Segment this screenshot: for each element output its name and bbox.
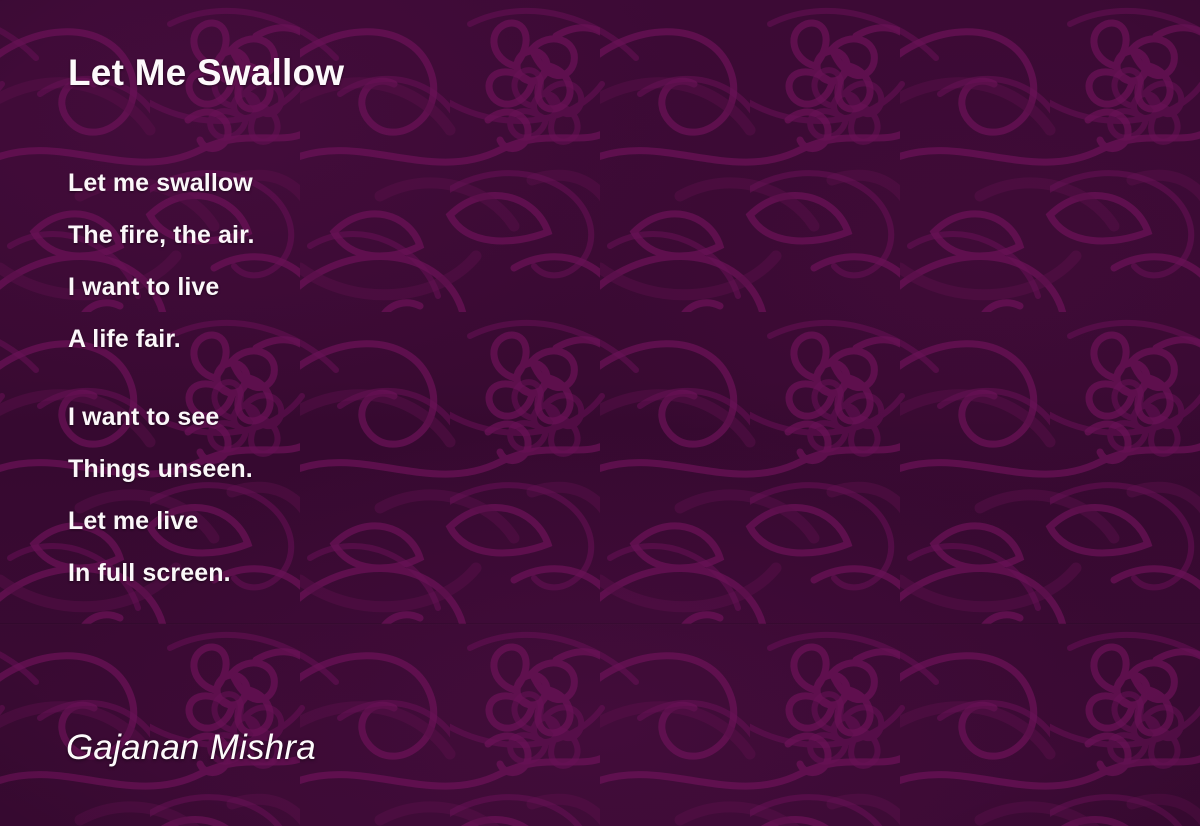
poem-content: Let Me Swallow Let me swallow The fire, … [0, 0, 1200, 826]
poem-author: Gajanan Mishra [66, 728, 316, 768]
poem-title: Let Me Swallow [68, 52, 344, 94]
poem-line: The fire, the air. [68, 209, 968, 261]
poem-card: Let Me Swallow Let me swallow The fire, … [0, 0, 1200, 826]
poem-stanza: Let me swallow The fire, the air. I want… [68, 157, 968, 365]
poem-line: In full screen. [68, 547, 968, 599]
poem-line: I want to see [68, 391, 968, 443]
poem-line: I want to live [68, 261, 968, 313]
poem-stanza: I want to see Things unseen. Let me live… [68, 391, 968, 599]
poem-line: Things unseen. [68, 443, 968, 495]
poem-line: Let me live [68, 495, 968, 547]
poem-line: Let me swallow [68, 157, 968, 209]
poem-line: A life fair. [68, 313, 968, 365]
poem-body: Let me swallow The fire, the air. I want… [68, 157, 968, 599]
